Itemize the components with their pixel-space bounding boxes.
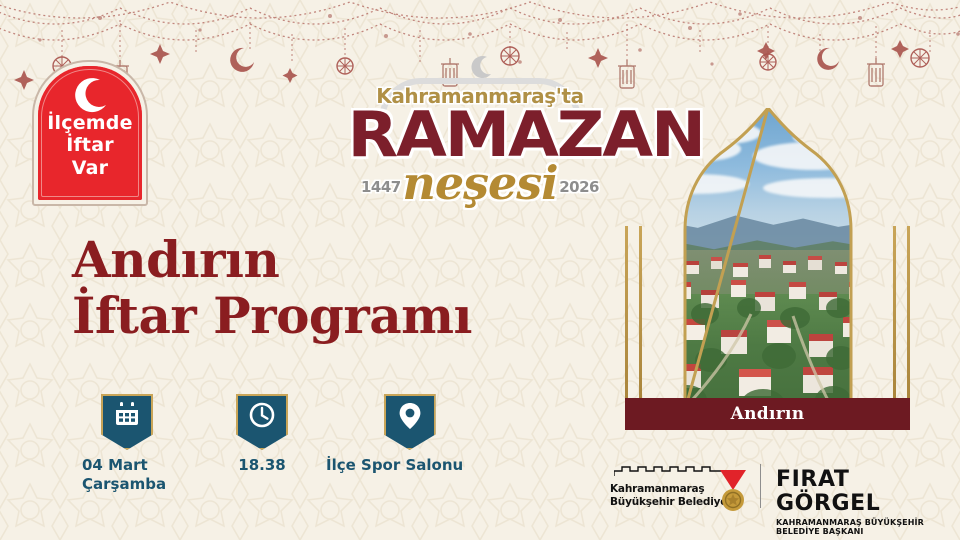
event-date-label: 04 Mart Çarşamba <box>82 456 166 494</box>
cloud <box>793 126 879 148</box>
andirin-photo <box>643 108 893 410</box>
arch-pillar <box>893 226 896 410</box>
municipality-logo: Kahramanmaraş Büyükşehir Belediyesi <box>608 464 753 509</box>
page-title: Andırın İftar Programı <box>72 232 572 344</box>
event-location: İlçe Spor Salonu <box>356 394 463 475</box>
ramadan-iftar-poster: İlçemde İftar Var Kahramanmaraş'ta RAMAZ… <box>0 0 960 540</box>
calendar-icon <box>101 402 153 428</box>
footer-logos: Kahramanmaraş Büyükşehir Belediyesi FIRA… <box>608 462 938 518</box>
event-location-label: İlçe Spor Salonu <box>326 456 463 475</box>
badge-line-1: İlçemde <box>32 112 148 134</box>
castle-wall-icon <box>614 465 724 477</box>
badge-line-3: Var <box>32 157 148 179</box>
arch-pillar <box>639 226 642 410</box>
location-pin-icon <box>384 402 436 430</box>
photo-caption: Andırın <box>731 404 805 424</box>
event-details: 04 Mart Çarşamba 18.38 <box>88 394 508 504</box>
badge-text: İlçemde İftar Var <box>32 112 148 179</box>
logo-divider <box>760 464 761 508</box>
mayor-title: KAHRAMANMARAŞ BÜYÜKŞEHİR BELEDİYE BAŞKAN… <box>776 518 938 536</box>
event-date: 04 Mart Çarşamba <box>88 394 166 494</box>
badge-line-2: İftar <box>32 134 148 156</box>
title-line-2: İftar Programı <box>72 288 572 344</box>
event-time: 18.38 <box>236 394 288 475</box>
town-buildings <box>643 108 893 410</box>
photo-caption-bar: Andırın <box>625 398 910 430</box>
title-line-1: Andırın <box>72 232 572 288</box>
medal-icon <box>716 470 750 514</box>
mayor-logo: FIRAT GÖRGEL KAHRAMANMARAŞ BÜYÜKŞEHİR BE… <box>776 468 938 536</box>
crescent-moon-icon <box>67 76 113 116</box>
shield-badge <box>101 394 153 450</box>
logo-sub-word: neşesi <box>355 160 605 206</box>
ramazan-nesesi-logo: Kahramanmaraş'ta RAMAZAN 1447 2026 neşes… <box>355 52 605 220</box>
shield-badge <box>384 394 436 450</box>
photo-arch-frame: Andırın <box>625 108 910 438</box>
ilcemde-iftar-var-badge: İlçemde İftar Var <box>32 60 148 206</box>
arch-pillar <box>625 226 628 410</box>
clock-icon <box>236 402 288 428</box>
arch-pillar <box>907 226 910 410</box>
event-time-label: 18.38 <box>236 456 288 475</box>
mayor-name: FIRAT GÖRGEL <box>776 468 938 516</box>
shield-badge <box>236 394 288 450</box>
